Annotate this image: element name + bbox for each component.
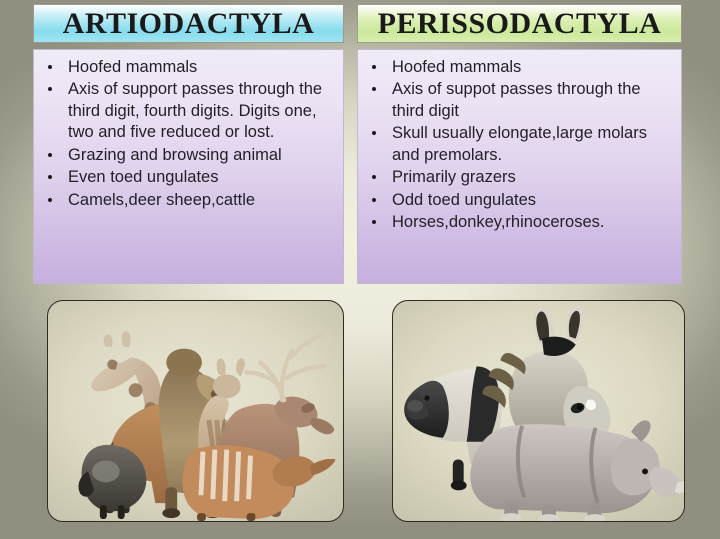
bullet-dot-icon bbox=[48, 175, 52, 179]
list-item-text: Primarily grazers bbox=[392, 168, 516, 186]
bullet-dot-icon bbox=[48, 198, 52, 202]
title-box-perissodactyla: PERISSODACTYLA bbox=[357, 4, 682, 43]
list-item-text: Axis of support passes through the third… bbox=[68, 80, 322, 141]
bullet-dot-icon bbox=[372, 220, 376, 224]
list-item: Horses,donkey,rhinoceroses. bbox=[362, 212, 677, 233]
bullet-dot-icon bbox=[372, 131, 376, 135]
list-item: Axis of support passes through the third… bbox=[38, 79, 339, 143]
list-item: Primarily grazers bbox=[362, 167, 677, 188]
comparison-slide: ARTIODACTYLA PERISSODACTYLA Hoofed mamma… bbox=[0, 0, 720, 539]
list-item: Skull usually elongate,large molars and … bbox=[362, 123, 677, 166]
striped-ungulate-figure bbox=[183, 445, 336, 521]
bullet-list-perissodactyla: Hoofed mammals Axis of suppot passes thr… bbox=[362, 57, 677, 234]
list-item: Hoofed mammals bbox=[38, 57, 339, 78]
bullet-dot-icon bbox=[372, 198, 376, 202]
content-box-artiodactyla: Hoofed mammals Axis of support passes th… bbox=[33, 49, 344, 284]
title-box-artiodactyla: ARTIODACTYLA bbox=[33, 4, 344, 43]
bullet-dot-icon bbox=[48, 65, 52, 69]
photo-frame-perissodactyla: Group of odd-toed ungulates: tapir, donk… bbox=[392, 300, 685, 522]
content-box-perissodactyla: Hoofed mammals Axis of suppot passes thr… bbox=[357, 49, 682, 284]
list-item-text: Hoofed mammals bbox=[392, 58, 521, 76]
list-item-text: Even toed ungulates bbox=[68, 168, 218, 186]
list-item-text: Horses,donkey,rhinoceroses. bbox=[392, 213, 604, 231]
odd-toed-ungulates-illustration bbox=[393, 301, 684, 521]
title-text-perissodactyla: PERISSODACTYLA bbox=[378, 9, 662, 39]
list-item: Axis of suppot passes through the third … bbox=[362, 79, 677, 122]
rhinoceros-figure bbox=[470, 420, 684, 521]
bullet-dot-icon bbox=[48, 87, 52, 91]
list-item: Grazing and browsing animal bbox=[38, 145, 339, 166]
list-item: Even toed ungulates bbox=[38, 167, 339, 188]
bullet-list-artiodactyla: Hoofed mammals Axis of support passes th… bbox=[38, 57, 339, 211]
list-item: Camels,deer sheep,cattle bbox=[38, 190, 339, 211]
bullet-dot-icon bbox=[372, 87, 376, 91]
list-item-text: Odd toed ungulates bbox=[392, 191, 536, 209]
wild-boar-figure bbox=[78, 445, 146, 519]
bullet-dot-icon bbox=[372, 175, 376, 179]
even-toed-ungulates-illustration bbox=[48, 301, 343, 521]
list-item-text: Grazing and browsing animal bbox=[68, 146, 282, 164]
list-item-text: Skull usually elongate,large molars and … bbox=[392, 124, 647, 163]
bullet-dot-icon bbox=[48, 153, 52, 157]
bullet-dot-icon bbox=[372, 65, 376, 69]
list-item-text: Camels,deer sheep,cattle bbox=[68, 191, 255, 209]
title-text-artiodactyla: ARTIODACTYLA bbox=[63, 9, 315, 39]
list-item: Odd toed ungulates bbox=[362, 190, 677, 211]
list-item-text: Hoofed mammals bbox=[68, 58, 197, 76]
list-item: Hoofed mammals bbox=[362, 57, 677, 78]
photo-frame-artiodactyla: Group of even-toed ungulates: giraffe, c… bbox=[47, 300, 344, 522]
list-item-text: Axis of suppot passes through the third … bbox=[392, 80, 641, 119]
